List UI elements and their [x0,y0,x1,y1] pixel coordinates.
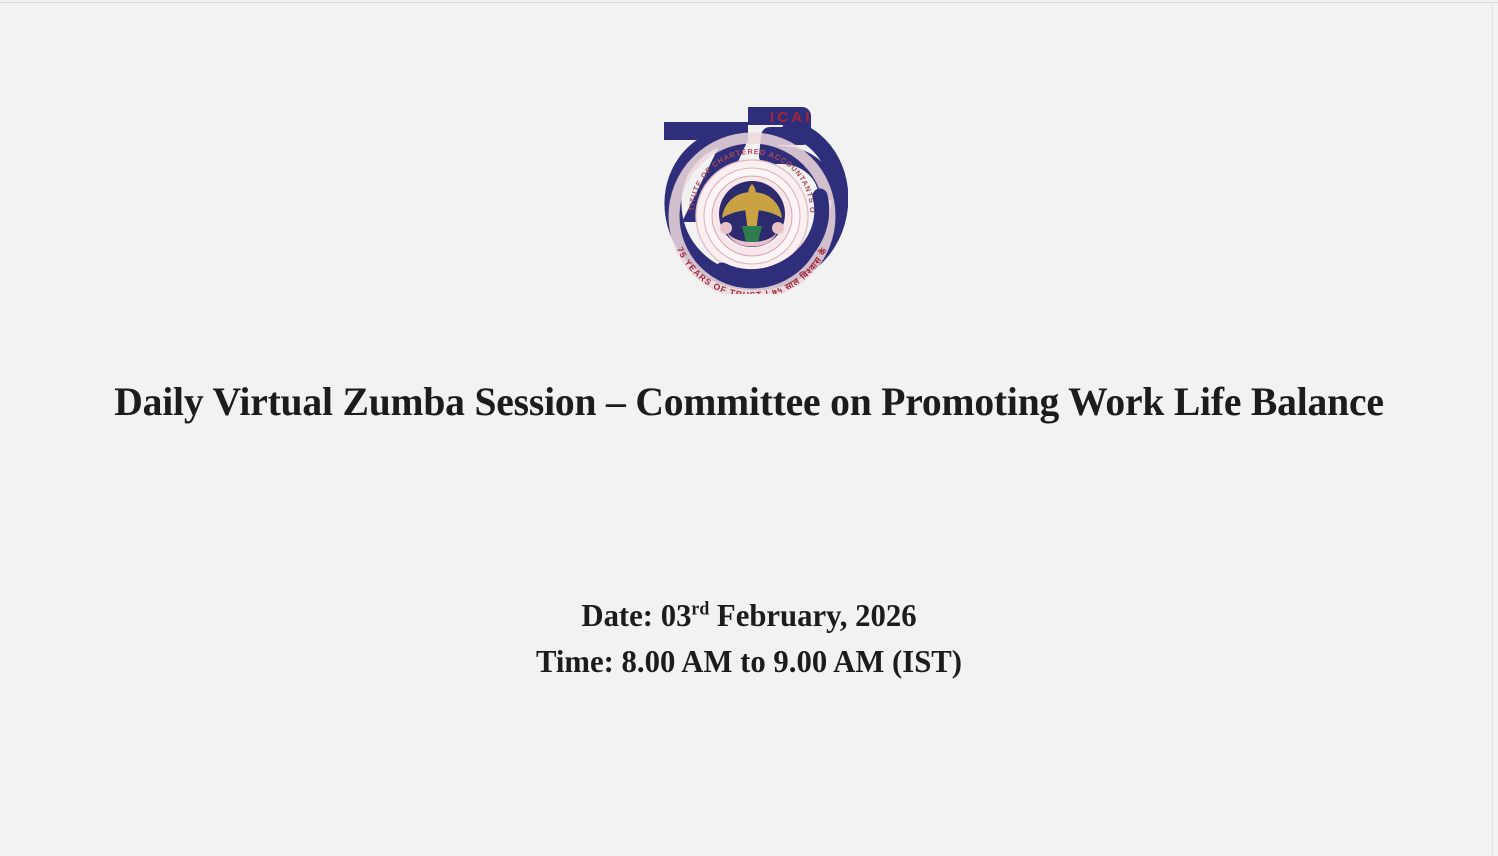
svg-text:ICAI: ICAI [770,109,813,126]
session-time: Time: 8.00 AM to 9.00 AM (IST) [30,638,1468,684]
session-date-rest: February, 2026 [717,597,917,633]
session-schedule: Date: 03rd February, 2026 Time: 8.00 AM … [0,592,1498,684]
page-title: Daily Virtual Zumba Session – Committee … [7,378,1490,425]
logo-emblem-garuda [719,181,785,247]
slide-frame-top-edge [0,2,1498,3]
session-date: Date: 03rd February, 2026 [30,592,1468,638]
session-date-label: Date: [581,597,653,633]
slide-frame-right-edge [1492,3,1493,856]
logo-icai-wordmark: ICAI [770,109,813,126]
presentation-slide: ICAI 75 YEARS OF TRUST | ७५ साल विश्वास … [0,0,1498,856]
session-date-day: 03 [661,597,692,633]
session-date-ordinal: rd [691,598,709,619]
icai-75-years-logo: ICAI 75 YEARS OF TRUST | ७५ साल विश्वास … [652,100,848,294]
